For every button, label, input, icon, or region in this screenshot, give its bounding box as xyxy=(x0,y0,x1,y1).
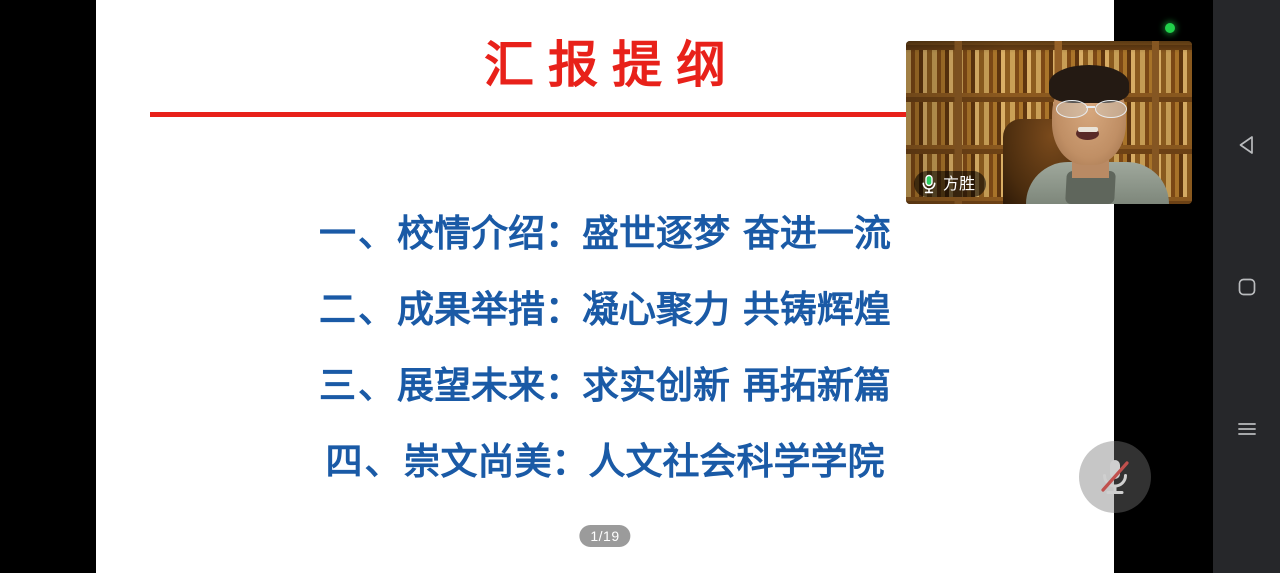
nav-home-button[interactable] xyxy=(1213,216,1280,358)
self-video-tile[interactable]: 方胜 xyxy=(906,41,1192,204)
eyeglass-lens-left xyxy=(1056,100,1088,118)
home-square-icon xyxy=(1235,275,1259,299)
outline-item-number: 三、 xyxy=(319,364,397,407)
outline-item-heading: 成果举措： xyxy=(397,288,582,331)
back-triangle-icon xyxy=(1234,132,1260,158)
participant-teeth xyxy=(1078,127,1098,132)
outline-list: 一、校情介绍：盛世逐梦 奋进一流 二、成果举措：凝心聚力 共铸辉煌 三、展望未来… xyxy=(96,196,1114,500)
eyeglass-lens-right xyxy=(1095,100,1127,118)
outline-item-heading: 崇文尚美： xyxy=(404,440,589,483)
letterbox-left xyxy=(0,0,96,573)
participant-hair xyxy=(1049,65,1129,102)
outline-item-heading: 展望未来： xyxy=(397,364,582,407)
participant-name-badge: 方胜 xyxy=(914,171,986,197)
nav-back-button[interactable] xyxy=(1213,74,1280,216)
device-screen: 汇报提纲 一、校情介绍：盛世逐梦 奋进一流 二、成果举措：凝心聚力 共铸辉煌 三… xyxy=(0,0,1280,573)
outline-item: 二、成果举措：凝心聚力 共铸辉煌 xyxy=(96,272,1114,348)
recents-menu-icon xyxy=(1235,417,1259,441)
page-indicator: 1/19 xyxy=(579,525,630,547)
outline-item-subtitle: 人文社会科学学院 xyxy=(589,440,885,483)
outline-item-number: 四、 xyxy=(326,440,404,483)
android-navigation-bar xyxy=(1213,0,1280,573)
outline-item: 四、崇文尚美：人文社会科学学院 xyxy=(96,424,1114,500)
outline-item-subtitle: 求实创新 再拓新篇 xyxy=(582,364,891,407)
outline-item: 一、校情介绍：盛世逐梦 奋进一流 xyxy=(96,196,1114,272)
outline-item-subtitle: 凝心聚力 共铸辉煌 xyxy=(582,288,891,331)
microphone-on-icon xyxy=(920,174,938,194)
outline-item-number: 二、 xyxy=(319,288,397,331)
title-divider-rule xyxy=(150,112,1006,117)
nav-recents-button[interactable] xyxy=(1213,358,1280,500)
microphone-muted-icon xyxy=(1098,457,1132,497)
recording-indicator-dot xyxy=(1165,23,1175,33)
outline-item-number: 一、 xyxy=(319,212,397,255)
mute-toggle-button[interactable] xyxy=(1079,441,1151,513)
participant-name: 方胜 xyxy=(943,173,975,195)
eyeglass-bridge xyxy=(1086,106,1095,108)
outline-item-subtitle: 盛世逐梦 奋进一流 xyxy=(582,212,891,255)
outline-item: 三、展望未来：求实创新 再拓新篇 xyxy=(96,348,1114,424)
outline-item-heading: 校情介绍： xyxy=(397,212,582,255)
